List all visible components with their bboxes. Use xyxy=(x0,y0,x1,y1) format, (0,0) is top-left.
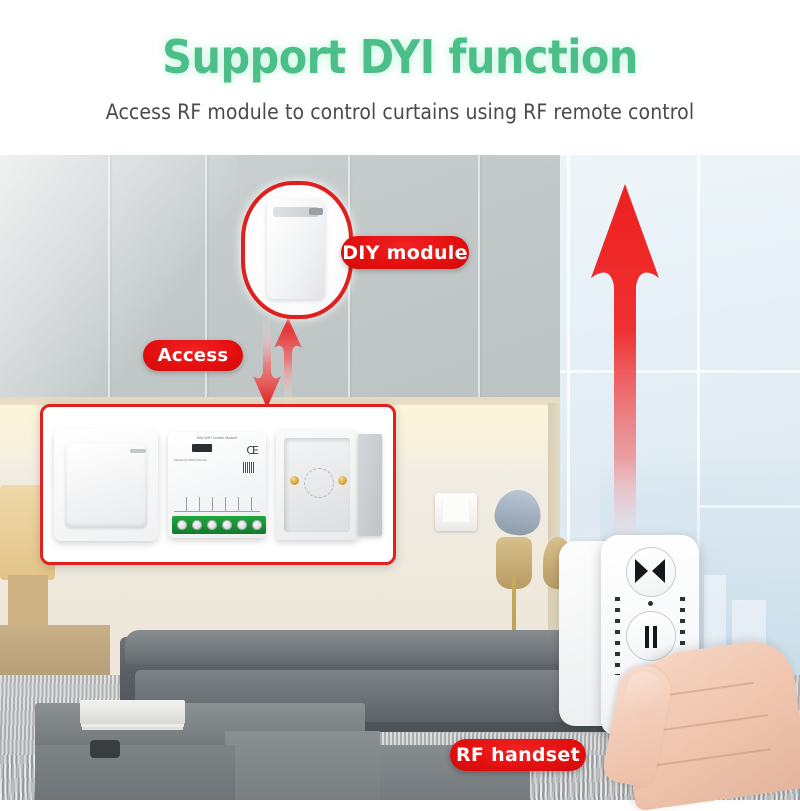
badge-diy-module: DIY module xyxy=(341,236,469,269)
coffee-table-front xyxy=(35,745,235,800)
close-curtain-icon xyxy=(627,548,673,594)
up-arrow-icon xyxy=(580,180,670,565)
up-down-arrows-icon xyxy=(252,312,308,414)
terminal-screw xyxy=(222,520,232,530)
ce-mark-icon: CE xyxy=(246,444,257,457)
module-display xyxy=(192,444,212,452)
product-kit-highlight: Mini WiFi Curtain Module CE Model:QS-WIF… xyxy=(40,404,396,565)
product-curtain-module: Mini WiFi Curtain Module CE Model:QS-WIF… xyxy=(168,432,266,538)
switch-indicator-led xyxy=(130,449,146,453)
back-box-knockout xyxy=(304,468,334,498)
back-box-lid xyxy=(358,434,382,536)
qr-code-icon xyxy=(243,462,254,473)
product-marketing-image: Support DYI function Access RF module to… xyxy=(0,0,800,800)
table-object xyxy=(90,740,120,758)
module-spec-line: Model:QS-WIFI-C01-2W xyxy=(174,458,220,462)
back-box-screw xyxy=(290,476,299,485)
books-stack xyxy=(80,700,185,724)
diy-module-highlight xyxy=(241,181,353,319)
terminal-screw xyxy=(192,520,202,530)
cabinet-seam xyxy=(108,155,110,405)
remote-close-button[interactable] xyxy=(626,547,676,597)
scene-wall-switch xyxy=(435,493,477,531)
back-box-screw xyxy=(338,476,347,485)
table-lamp-base xyxy=(8,575,48,630)
terminal-screw xyxy=(207,520,217,530)
module-label-title: Mini WiFi Curtain Module xyxy=(168,436,266,440)
finger-crease xyxy=(652,748,771,766)
module-terminal-block xyxy=(172,516,266,534)
remote-status-led xyxy=(648,601,653,606)
terminal-screw xyxy=(177,520,187,530)
remote-pause-button[interactable] xyxy=(626,611,676,661)
terminal-screw xyxy=(252,520,262,530)
pause-icon xyxy=(653,626,657,648)
product-wall-switch xyxy=(54,429,158,541)
thumb-nail xyxy=(622,669,664,721)
product-back-box xyxy=(276,430,382,540)
badge-label: RF handset xyxy=(456,744,580,766)
terminal-screw xyxy=(237,520,247,530)
switch-rocker xyxy=(65,443,147,528)
badge-label: Access xyxy=(158,345,229,366)
remote-dot-column xyxy=(615,597,620,675)
badge-label: DIY module xyxy=(342,242,468,264)
module-terminal-markings xyxy=(174,497,260,512)
page-title: Support DYI function xyxy=(0,30,800,84)
badge-rf-handset: RF handset xyxy=(450,739,586,771)
badge-access: Access xyxy=(143,340,243,371)
pause-icon xyxy=(645,626,649,648)
coffee-table-side xyxy=(225,731,380,800)
header-banner: Support DYI function Access RF module to… xyxy=(0,0,800,155)
page-subtitle: Access RF module to control curtains usi… xyxy=(0,100,800,124)
cabinet-seam xyxy=(478,155,480,405)
diy-module-device xyxy=(267,199,325,299)
back-box-body xyxy=(276,430,358,540)
